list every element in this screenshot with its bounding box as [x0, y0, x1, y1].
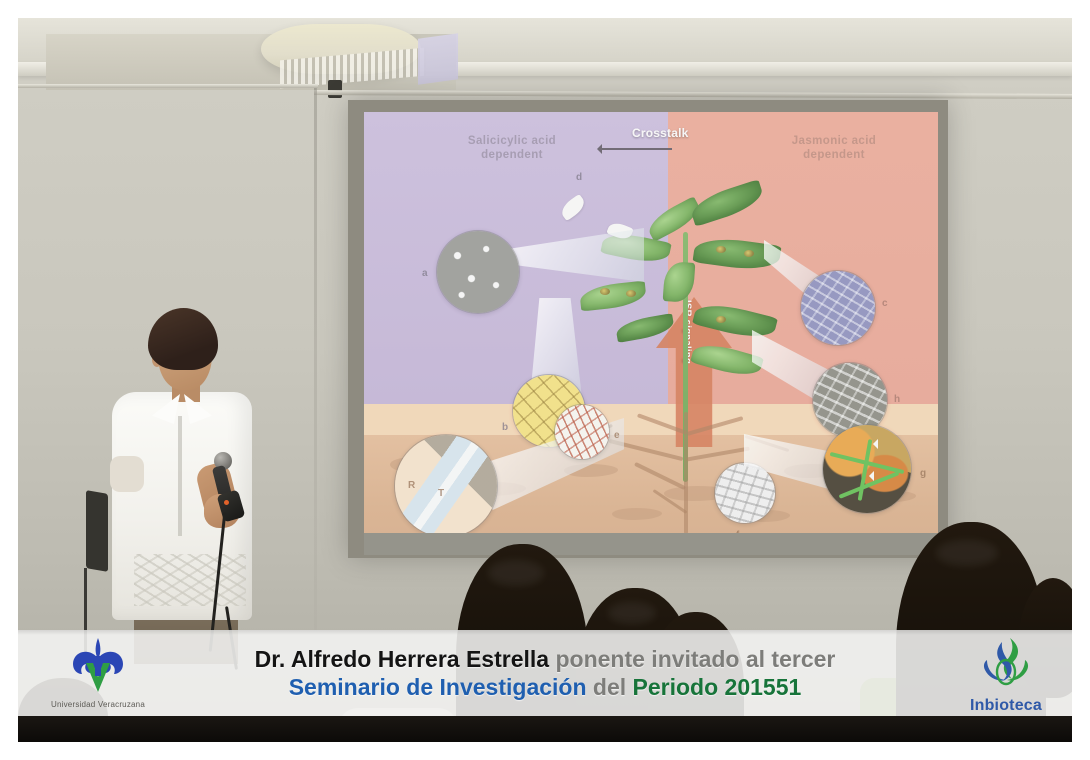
period-label: Periodo 201551	[633, 674, 802, 700]
inbioteca-logo: Inbioteca	[950, 636, 1062, 720]
projection-screen: Salicicylic acid dependent Jasmonic acid…	[348, 100, 948, 558]
photo-bottom-strip	[18, 716, 1072, 742]
arrow-icon	[873, 439, 878, 449]
callout-circle-c	[800, 270, 876, 346]
callout-label-d: d	[576, 172, 582, 183]
hair-highlight	[608, 602, 656, 624]
soil-microbe-texture	[715, 463, 775, 523]
insect-icon	[716, 246, 726, 253]
callout-label-e: e	[614, 430, 620, 441]
presenter-left-arm	[110, 456, 144, 492]
jasmonic-zone-label-line1: Jasmonic acid	[754, 134, 914, 148]
blue-bacteria-texture	[801, 271, 875, 345]
callout-label-h: h	[894, 394, 900, 405]
presenter-person	[104, 306, 314, 661]
callout-label-a: a	[422, 268, 428, 279]
crosstalk-arrow-icon	[598, 148, 672, 150]
crosstalk-label: Crosstalk	[632, 126, 689, 140]
salicylic-zone-label: Salicicylic acid dependent	[422, 134, 602, 163]
jasmonic-zone-label: Jasmonic acid dependent	[754, 134, 914, 163]
insect-icon	[716, 316, 726, 323]
callout-circle-g	[822, 424, 912, 514]
wall-seam-vertical	[314, 88, 317, 648]
insect-icon	[626, 290, 636, 297]
presenter-hair	[148, 308, 218, 370]
arrow-icon	[869, 471, 874, 481]
wall-speaker-box	[328, 80, 342, 98]
hair-highlight	[936, 540, 998, 566]
caption-connector: del	[593, 674, 626, 700]
callout-label-b: b	[502, 422, 508, 433]
caption-line-1: Dr. Alfredo Herrera Estrella ponente inv…	[255, 645, 836, 673]
universidad-veracruzana-logo: Universidad Veracruzana	[34, 636, 162, 718]
callout-label-c: c	[882, 298, 888, 309]
caption-text: Dr. Alfredo Herrera Estrella ponente inv…	[255, 645, 836, 701]
callout-label-T: T	[438, 488, 444, 499]
speaker-name: Dr. Alfredo Herrera Estrella	[255, 646, 549, 672]
callout-label-g: g	[920, 468, 926, 479]
salicylic-zone-label-line1: Salicicylic acid	[422, 134, 602, 148]
callout-label-R: R	[408, 480, 415, 491]
wall-seam-horizontal-left	[18, 84, 318, 88]
screenshot-root: Salicicylic acid dependent Jasmonic acid…	[0, 0, 1090, 760]
shirt-embroidery	[134, 554, 246, 606]
caption-band: Dr. Alfredo Herrera Estrella ponente inv…	[18, 630, 1072, 716]
callout-circle-a	[436, 230, 520, 314]
presentation-slide: Salicicylic acid dependent Jasmonic acid…	[364, 112, 938, 555]
slide-bottom-bar	[364, 533, 938, 555]
seminar-name: Seminario de Investigación	[289, 674, 587, 700]
salicylic-zone-label-line2: dependent	[422, 148, 602, 162]
hair-highlight	[488, 560, 544, 586]
inbioteca-mark-icon	[977, 636, 1035, 692]
inbioteca-caption: Inbioteca	[950, 697, 1062, 715]
bacteria-texture	[437, 231, 519, 313]
jasmonic-zone-label-line2: dependent	[754, 148, 914, 162]
insect-icon	[744, 250, 754, 257]
clicker-led-indicator	[224, 500, 229, 505]
caption-line-1-rest: ponente invitado al tercer	[555, 646, 835, 672]
insect-icon	[600, 288, 610, 295]
callout-circle-e	[554, 404, 610, 460]
caption-line-2: Seminario de Investigación del Periodo 2…	[255, 673, 836, 701]
root-exudate-texture	[555, 405, 609, 459]
caption-inner: Dr. Alfredo Herrera Estrella ponente inv…	[18, 630, 1072, 716]
shirt-placket	[178, 416, 182, 536]
fleur-de-lis-icon	[62, 636, 134, 694]
light-end-cap	[418, 33, 458, 85]
universidad-veracruzana-caption: Universidad Veracruzana	[34, 700, 162, 709]
chair	[86, 490, 108, 572]
